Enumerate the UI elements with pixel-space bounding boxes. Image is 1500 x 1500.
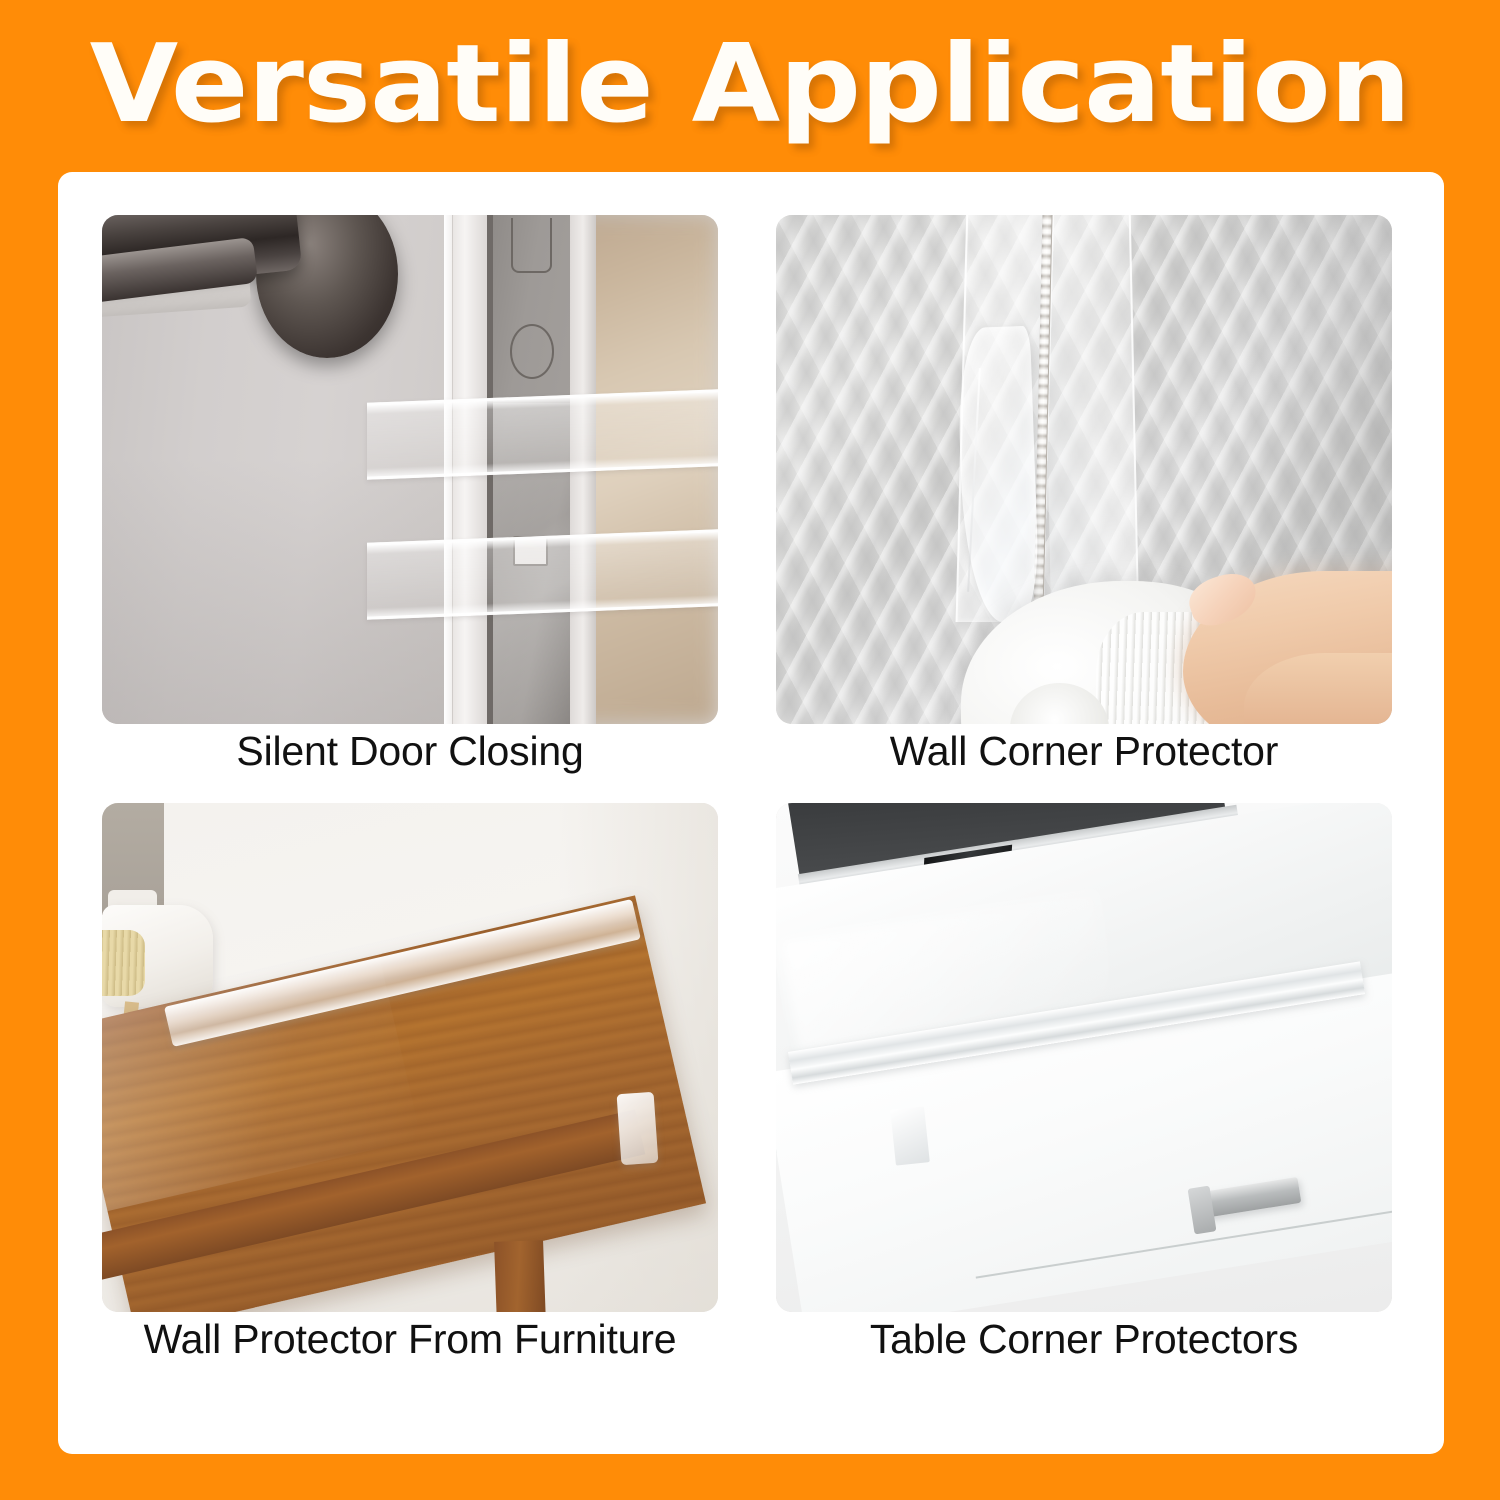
panel-caption-silent-door-closing: Silent Door Closing xyxy=(102,728,718,775)
panel-wall-corner-protector[interactable]: Wall Corner Protector xyxy=(776,215,1392,775)
strike-plate-slot-icon xyxy=(511,218,552,273)
product-infographic-poster: Versatile Application xyxy=(0,0,1500,1500)
panel-silent-door-closing[interactable]: Silent Door Closing xyxy=(102,215,718,775)
photo-wall-protector-from-furniture xyxy=(102,803,718,1312)
silicone-strip-lower xyxy=(367,529,718,620)
panel-caption-wall-protector-from-furniture: Wall Protector From Furniture xyxy=(102,1316,718,1363)
clear-tape-right-half xyxy=(1043,215,1140,632)
panel-table-corner-protectors[interactable]: Table Corner Protectors xyxy=(776,803,1392,1363)
table-leg xyxy=(494,1240,547,1312)
content-card: Silent Door Closing xyxy=(58,172,1444,1454)
appliance-grille xyxy=(102,930,145,996)
panel-wall-protector-from-furniture[interactable]: Wall Protector From Furniture xyxy=(102,803,718,1363)
panel-caption-wall-corner-protector: Wall Corner Protector xyxy=(776,728,1392,775)
panel-caption-table-corner-protectors: Table Corner Protectors xyxy=(776,1316,1392,1363)
photo-silent-door-closing xyxy=(102,215,718,724)
clear-corner-protector-end xyxy=(617,1092,659,1166)
silicone-strip-upper xyxy=(367,389,718,480)
clear-corner-protector-end xyxy=(890,1107,930,1166)
page-title: Versatile Application xyxy=(90,31,1410,139)
poster-title-bar: Versatile Application xyxy=(0,0,1500,170)
photo-wall-corner-protector xyxy=(776,215,1392,724)
photo-table-corner-protectors xyxy=(776,803,1392,1312)
panel-grid: Silent Door Closing xyxy=(102,215,1400,1411)
